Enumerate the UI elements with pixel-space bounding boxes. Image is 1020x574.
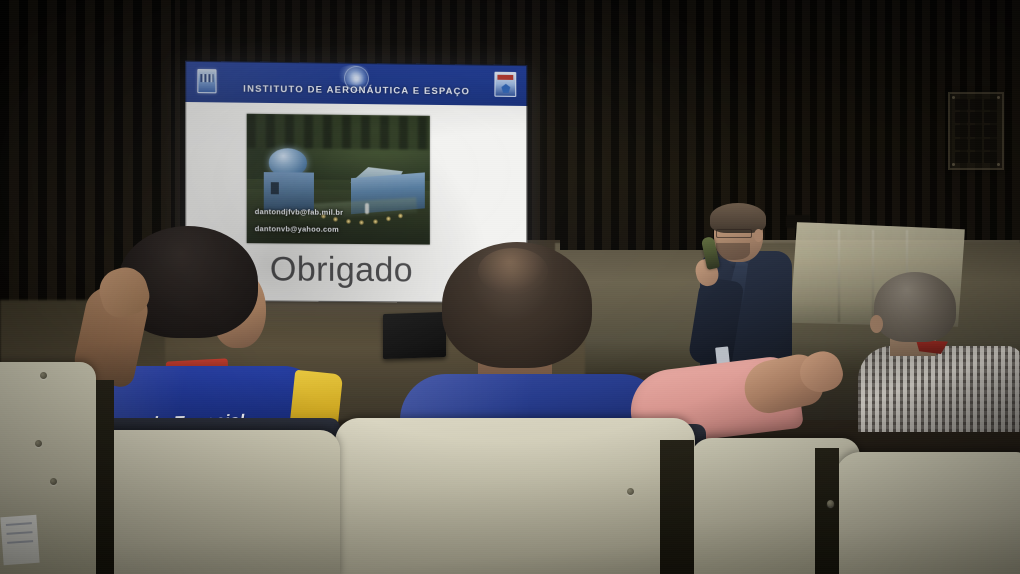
- presenter-figure: [688, 207, 800, 382]
- seat-gap-left: [96, 380, 114, 574]
- plaid-man-ear: [870, 315, 883, 333]
- presenter-beard: [716, 243, 750, 260]
- photo-figure: [365, 203, 369, 214]
- vent-grid: [955, 99, 997, 163]
- foreground-seat-far-right: [835, 452, 1020, 574]
- photo-tree-line: [247, 114, 430, 150]
- photo-observatory-building: [264, 172, 314, 211]
- attendee-plaid-shirt: [858, 272, 1020, 432]
- paper-on-seat: [0, 515, 39, 565]
- seat-gap-far-right: [815, 448, 839, 574]
- seat-gap-right: [660, 440, 694, 574]
- wall-vent-grille-icon: [948, 92, 1004, 170]
- auditorium-photo: INSTITUTO DE AERONÁUTICA E ESPAÇO: [0, 0, 1020, 574]
- attendee-center-figure: Jornada Espacial: [400, 242, 665, 442]
- presenter-ear: [754, 229, 763, 242]
- slide-photograph: dantondjfvb@fab.mil.br dantonvb@yahoo.co…: [247, 114, 430, 245]
- plaid-shirt-shading: [858, 346, 1020, 432]
- eyeglasses-icon: [716, 229, 752, 238]
- slide-institution-title: INSTITUTO DE AERONÁUTICA E ESPAÇO: [185, 83, 527, 98]
- contact-email-primary: dantondjfvb@fab.mil.br: [255, 207, 344, 217]
- plaid-man-hair: [874, 272, 956, 342]
- slide-header-band: INSTITUTO DE AERONÁUTICA E ESPAÇO: [185, 61, 527, 106]
- center-attendee-crown: [478, 248, 548, 294]
- foreground-seat-center: [335, 418, 695, 574]
